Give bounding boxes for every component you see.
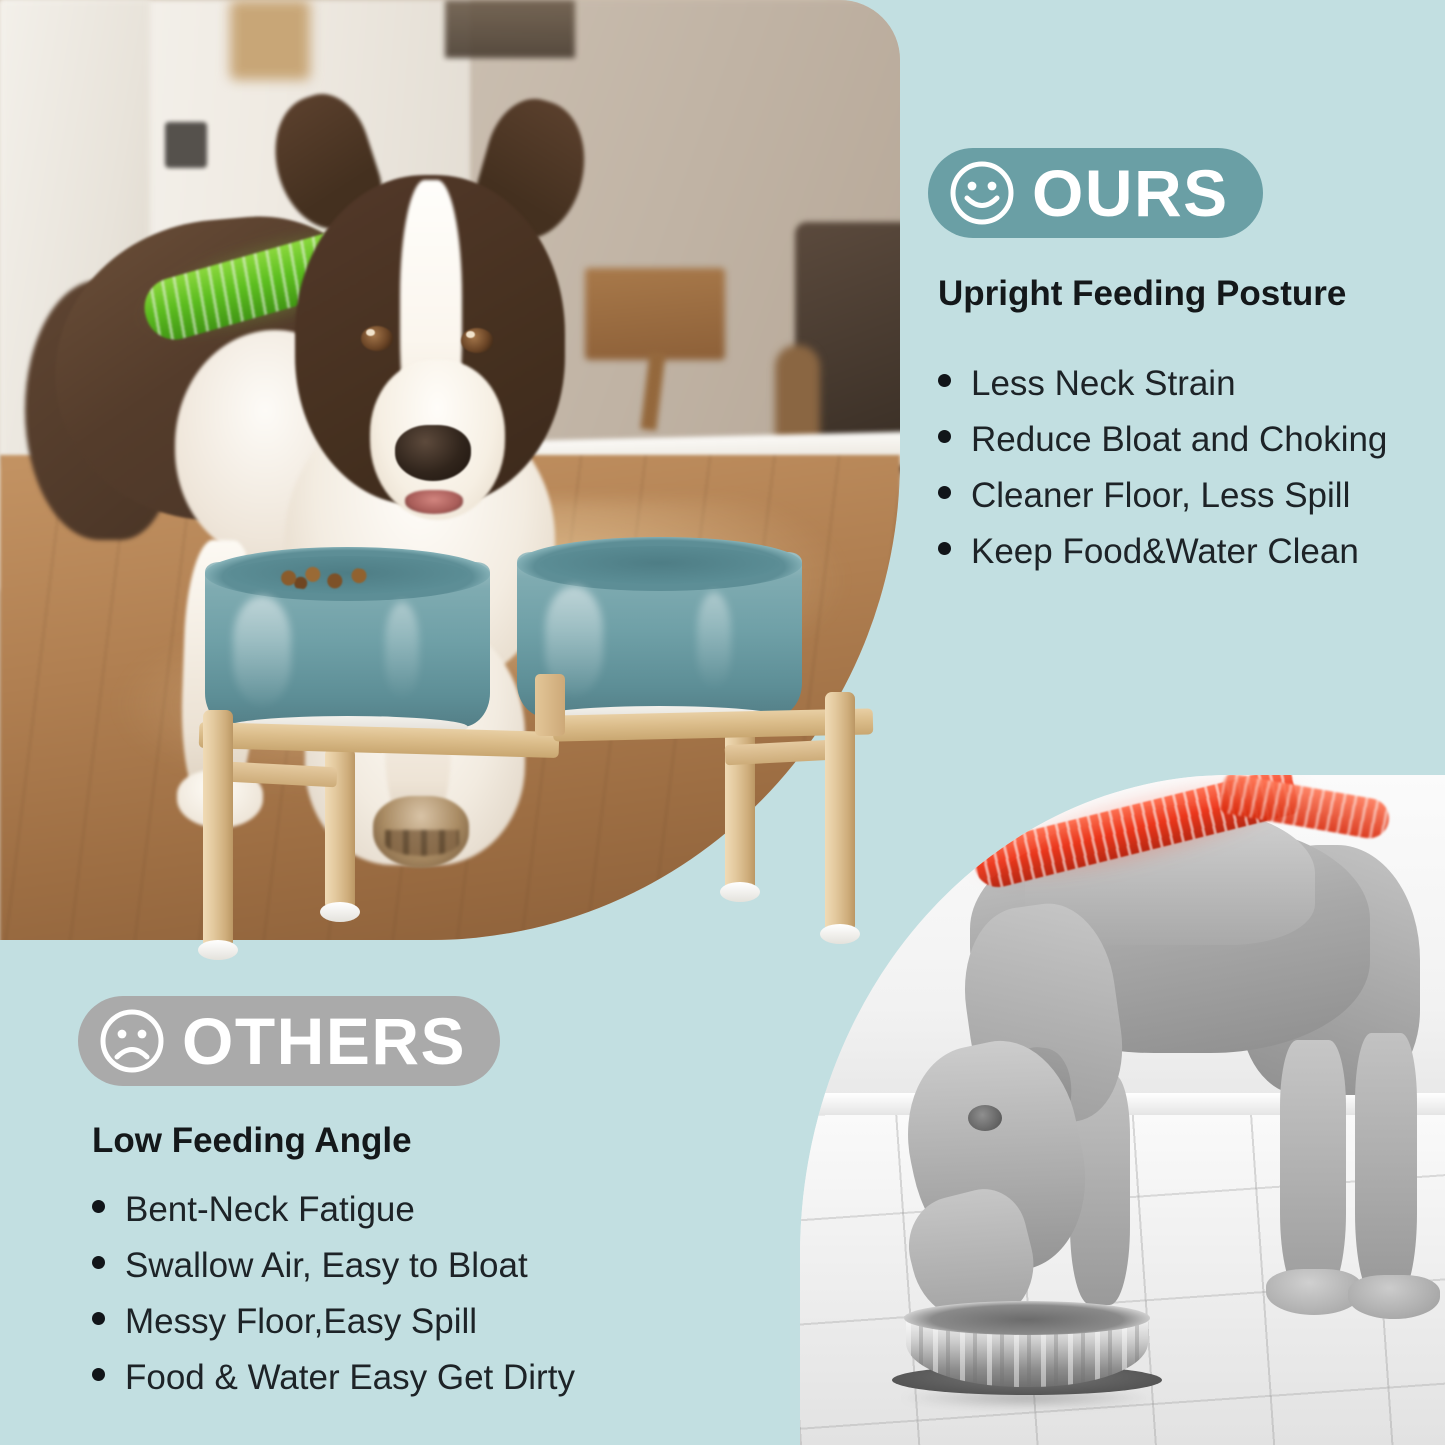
bowl-left-gloss-highlight-2	[385, 602, 419, 700]
dog-food-kibble	[271, 566, 381, 590]
ours-badge: OURS	[928, 148, 1263, 238]
bullet-dot-icon	[92, 1312, 105, 1325]
wall-art-frame	[445, 0, 575, 58]
bowl-right-interior	[539, 546, 780, 584]
gray-dog-eye	[968, 1105, 1002, 1131]
bullet-dot-icon	[938, 430, 951, 443]
stand-foot-pad-front-left	[198, 940, 238, 960]
ceramic-bowl-left	[205, 562, 490, 727]
stainless-steel-floor-bowl	[892, 1303, 1162, 1395]
gray-dog-hind-leg-near	[1280, 1040, 1346, 1295]
stand-center-crossbar	[535, 674, 565, 736]
bullet-dot-icon	[92, 1200, 105, 1213]
list-item-label: Messy Floor,Easy Spill	[125, 1300, 477, 1344]
ours-badge-label: OURS	[1032, 160, 1229, 226]
list-item-label: Less Neck Strain	[971, 362, 1236, 406]
dog-mouth	[405, 490, 463, 514]
ours-benefit-list: Less Neck Strain Reduce Bloat and Chokin…	[938, 362, 1387, 586]
dog-nose	[395, 425, 471, 481]
list-item-label: Reduce Bloat and Choking	[971, 418, 1387, 462]
gray-dog-hind-leg-far	[1355, 1033, 1417, 1298]
elevated-dog-bowl-stand-product	[205, 552, 865, 952]
gray-dog-hind-paw-far	[1348, 1275, 1440, 1319]
list-item: Food & Water Easy Get Dirty	[92, 1356, 575, 1400]
others-badge: OTHERS	[78, 996, 500, 1086]
list-item-label: Swallow Air, Easy to Bloat	[125, 1244, 528, 1288]
list-item: Less Neck Strain	[938, 362, 1387, 406]
bowl-left-gloss-highlight	[233, 596, 291, 706]
sad-face-icon	[96, 1005, 168, 1077]
ours-heading: Upright Feeding Posture	[938, 274, 1346, 314]
list-item: Reduce Bloat and Choking	[938, 418, 1387, 462]
bullet-dot-icon	[92, 1256, 105, 1269]
others-scene-photo	[800, 775, 1445, 1445]
list-item-label: Keep Food&Water Clean	[971, 530, 1359, 574]
stand-leg-front-left	[203, 710, 233, 948]
others-drawback-list: Bent-Neck Fatigue Swallow Air, Easy to B…	[92, 1188, 575, 1412]
list-item-label: Cleaner Floor, Less Spill	[971, 474, 1350, 518]
smiley-face-icon	[946, 157, 1018, 229]
dog-left-eye-shine	[366, 329, 375, 336]
list-item: Keep Food&Water Clean	[938, 530, 1387, 574]
list-item: Bent-Neck Fatigue	[92, 1188, 575, 1232]
others-heading: Low Feeding Angle	[92, 1121, 412, 1161]
list-item-label: Bent-Neck Fatigue	[125, 1188, 415, 1232]
bullet-dot-icon	[938, 374, 951, 387]
stand-foot-pad-back-left	[320, 902, 360, 922]
steel-bowl-rim	[904, 1301, 1150, 1335]
list-item: Cleaner Floor, Less Spill	[938, 474, 1387, 518]
list-item: Swallow Air, Easy to Bloat	[92, 1244, 575, 1288]
list-item-label: Food & Water Easy Get Dirty	[125, 1356, 575, 1400]
stand-foot-pad-back-right	[720, 882, 760, 902]
list-item: Messy Floor,Easy Spill	[92, 1300, 575, 1344]
bullet-dot-icon	[938, 542, 951, 555]
others-badge-label: OTHERS	[182, 1008, 466, 1074]
stand-rail-left	[199, 722, 560, 758]
infographic-canvas: OURS Upright Feeding Posture Less Neck S…	[0, 0, 1445, 1445]
dog-right-eye-shine	[466, 331, 475, 338]
bowl-right-gloss-highlight-2	[697, 592, 731, 690]
bullet-dot-icon	[938, 486, 951, 499]
bullet-dot-icon	[92, 1368, 105, 1381]
wall-trim	[230, 0, 310, 80]
